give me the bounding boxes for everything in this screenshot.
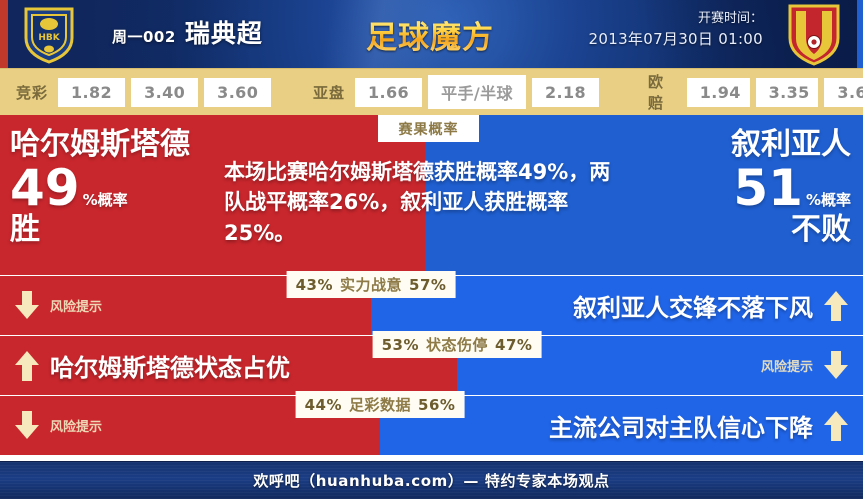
svg-text:HBK: HBK <box>38 33 60 43</box>
home-club-crest-icon: HBK <box>18 4 80 64</box>
odds-value[interactable]: 1.66 <box>355 78 422 107</box>
stat-label: 44% 足彩数据 56% <box>296 391 465 418</box>
away-result-word: 不败 <box>636 213 851 246</box>
stat-home-message-text: 风险提示 <box>50 416 102 435</box>
probability-band: 赛果概率 哈尔姆斯塔德 49 %概率 胜 本场比赛哈尔姆斯塔德获胜概率49%，两… <box>0 115 863 275</box>
home-team-name: 哈尔姆斯塔德 <box>10 129 225 161</box>
probability-summary: 本场比赛哈尔姆斯塔德获胜概率49%，两队战平概率26%，叙利亚人获胜概率25%。 <box>224 157 622 248</box>
home-percent-suffix: %概率 <box>83 189 128 210</box>
header-right-accent <box>857 0 863 68</box>
odds-group-jingcai: 竞彩 1.82 3.40 3.60 <box>16 78 271 107</box>
home-result-word: 胜 <box>10 213 225 246</box>
stat-row: 44% 足彩数据 56% 风险提示 主流公司对主队信心下降 <box>0 396 863 455</box>
stat-right-percent: 57% <box>409 276 446 294</box>
home-percent-row: 49 %概率 <box>10 163 225 213</box>
stat-home-message: 哈尔姆斯塔德状态占优 <box>14 336 290 395</box>
stat-right-percent: 56% <box>418 396 455 414</box>
odds-group-label: 欧赔 <box>648 71 677 113</box>
away-percent-row: 51 %概率 <box>636 163 851 213</box>
kickoff-time: 开赛时间： 2013年07月30日 01:00 <box>589 10 763 51</box>
odds-value[interactable]: 3.60 <box>204 78 271 107</box>
stat-home-message-text: 哈尔姆斯塔德状态占优 <box>50 348 290 383</box>
stat-left-percent: 53% <box>382 336 419 354</box>
infographic-root: HBK 周一002 瑞典超 足球魔方 开赛时间： 2013年07月30日 01:… <box>0 0 863 499</box>
odds-value[interactable]: 3.66 <box>824 78 863 107</box>
away-percent-suffix: %概率 <box>806 189 851 210</box>
odds-handicap[interactable]: 平手/半球 <box>428 75 526 109</box>
stat-label: 43% 实力战意 57% <box>287 271 456 298</box>
odds-value[interactable]: 2.18 <box>532 78 599 107</box>
stat-away-message: 风险提示 <box>761 336 849 395</box>
away-percent-value: 51 <box>733 163 803 213</box>
stat-home-message-text: 风险提示 <box>50 296 102 315</box>
league-name: 瑞典超 <box>185 14 263 50</box>
match-number: 周一002 <box>112 26 176 47</box>
away-club-crest-icon <box>783 2 845 66</box>
stat-home-message: 风险提示 <box>14 276 102 335</box>
tab-result-probability[interactable]: 赛果概率 <box>378 115 479 142</box>
stat-left-percent: 44% <box>305 396 342 414</box>
stat-name: 实力战意 <box>340 274 402 295</box>
odds-bar: 竞彩 1.82 3.40 3.60 亚盘 1.66 平手/半球 2.18 欧赔 … <box>0 68 863 115</box>
footer-bar: 欢呼吧（huanhuba.com）— 特约专家本场观点 <box>0 461 863 499</box>
odds-value[interactable]: 3.40 <box>131 78 198 107</box>
header-left-accent <box>0 0 8 68</box>
stat-name: 状态伤停 <box>426 334 488 355</box>
odds-value[interactable]: 1.94 <box>687 78 750 107</box>
away-probability-block: 叙利亚人 51 %概率 不败 <box>636 129 851 246</box>
home-percent-value: 49 <box>10 163 80 213</box>
kickoff-value: 2013年07月30日 01:00 <box>589 29 763 51</box>
stat-home-message: 风险提示 <box>14 396 102 455</box>
stat-right-percent: 47% <box>495 336 532 354</box>
brand-logo-text: 足球魔方 <box>366 12 494 57</box>
up-arrow-icon <box>823 291 849 321</box>
footer-text: 欢呼吧（huanhuba.com）— 特约专家本场观点 <box>253 470 609 491</box>
away-team-name: 叙利亚人 <box>636 129 851 161</box>
match-title: 周一002 瑞典超 <box>112 14 263 50</box>
home-probability-block: 哈尔姆斯塔德 49 %概率 胜 <box>10 129 225 246</box>
odds-group-yapan: 亚盘 1.66 平手/半球 2.18 <box>313 75 599 109</box>
brand-logo: 足球魔方 <box>359 8 501 60</box>
stat-label: 53% 状态伤停 47% <box>373 331 542 358</box>
odds-value[interactable]: 1.82 <box>58 78 125 107</box>
down-arrow-icon <box>823 351 849 381</box>
kickoff-label: 开赛时间： <box>589 10 763 29</box>
down-arrow-icon <box>14 291 40 321</box>
stat-away-message-text: 叙利亚人交锋不落下风 <box>573 288 813 323</box>
odds-group-label: 亚盘 <box>313 82 345 103</box>
stat-away-message: 叙利亚人交锋不落下风 <box>573 276 849 335</box>
stat-name: 足彩数据 <box>349 394 411 415</box>
up-arrow-icon <box>14 351 40 381</box>
stat-left-percent: 43% <box>296 276 333 294</box>
odds-value[interactable]: 3.35 <box>756 78 819 107</box>
down-arrow-icon <box>14 411 40 441</box>
odds-group-label: 竞彩 <box>16 82 48 103</box>
up-arrow-icon <box>823 411 849 441</box>
stat-row: 43% 实力战意 57% 风险提示 叙利亚人交锋不落下风 <box>0 276 863 335</box>
stat-away-message: 主流公司对主队信心下降 <box>549 396 849 455</box>
stat-away-message-text: 主流公司对主队信心下降 <box>549 408 813 443</box>
stat-away-message-text: 风险提示 <box>761 356 813 375</box>
match-header: HBK 周一002 瑞典超 足球魔方 开赛时间： 2013年07月30日 01:… <box>0 0 863 68</box>
stat-row: 53% 状态伤停 47% 哈尔姆斯塔德状态占优 风险提示 <box>0 336 863 395</box>
odds-group-oupei: 欧赔 1.94 3.35 3.66 <box>648 71 863 113</box>
